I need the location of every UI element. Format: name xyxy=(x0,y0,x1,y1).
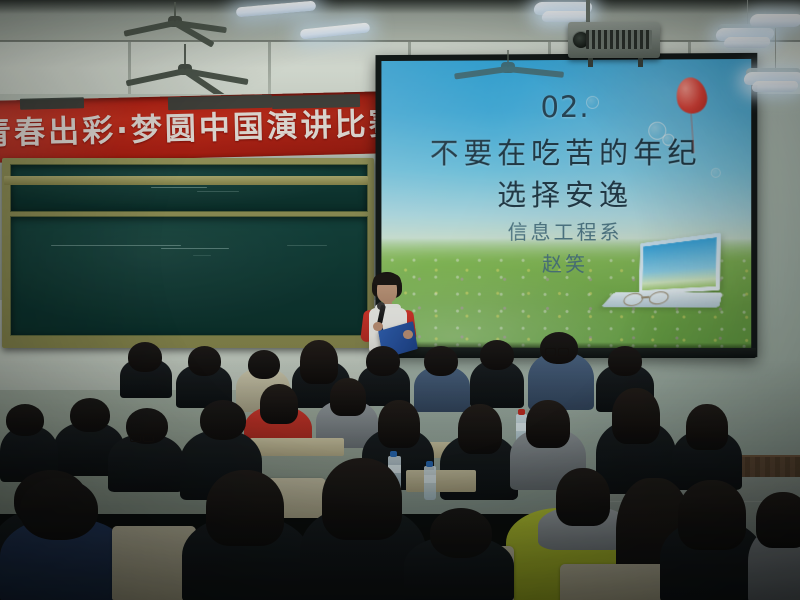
eyeglasses-icon xyxy=(130,434,158,440)
audience-head xyxy=(70,398,110,432)
chalk-mark xyxy=(197,191,239,192)
audience-head xyxy=(756,492,800,548)
water-bottle xyxy=(424,466,436,500)
lamp-tube xyxy=(751,81,799,92)
chalk-mark xyxy=(287,245,327,246)
chalk-mark xyxy=(151,187,207,188)
fan-blade xyxy=(454,66,508,79)
audience-head xyxy=(300,340,338,384)
audience-head xyxy=(200,400,246,440)
audience-head xyxy=(20,478,98,540)
banner-occluding-beam xyxy=(272,94,360,109)
projector-bracket xyxy=(638,58,643,67)
chalk-mark xyxy=(193,255,211,256)
projector-vents xyxy=(586,30,652,49)
ceiling-fan xyxy=(448,50,568,84)
audience-head xyxy=(556,468,610,526)
audience xyxy=(0,330,800,600)
fan-blade xyxy=(126,68,186,86)
audience-head xyxy=(678,480,746,550)
fan-blade xyxy=(508,66,564,78)
fan-rod xyxy=(184,44,186,66)
banner-occluding-beam xyxy=(168,95,272,111)
slide-title-line2: 选择安逸 xyxy=(381,172,751,214)
audience-head xyxy=(458,404,502,454)
eyeglasses-icon xyxy=(545,348,567,354)
lamp-tube xyxy=(541,11,589,22)
audience-head xyxy=(6,404,44,436)
presenter-fringe xyxy=(373,274,401,285)
bottle-cap xyxy=(518,409,525,415)
ceiling-projector xyxy=(568,22,660,58)
classroom-photo: 青春出彩·梦圆中国演讲比赛 xyxy=(0,0,800,600)
screen-surface: 02. 不要在吃苦的年纪 选择安逸 信息工程系 赵笑 xyxy=(381,59,751,349)
fluorescent-lamp xyxy=(750,14,800,34)
bottle-label xyxy=(424,475,436,483)
projector-bracket xyxy=(588,58,593,67)
audience-head xyxy=(248,350,280,379)
audience-head xyxy=(366,346,400,376)
banner-occluding-beam xyxy=(20,97,84,110)
ceiling-fan xyxy=(120,44,250,84)
slide-title-line1: 不要在吃苦的年纪 xyxy=(381,129,751,172)
audience-head xyxy=(612,388,660,444)
projection-screen: 02. 不要在吃苦的年纪 选择安逸 信息工程系 赵笑 xyxy=(376,53,758,357)
bottle-cap xyxy=(390,451,397,457)
laptop-icon xyxy=(608,238,725,321)
ceiling-fan xyxy=(120,2,230,38)
audience-head xyxy=(526,400,570,448)
audience-head xyxy=(480,340,514,370)
chalk-mark xyxy=(51,245,181,246)
audience-head xyxy=(424,346,458,376)
fluorescent-lamp xyxy=(744,72,800,96)
audience-head xyxy=(330,378,366,416)
fan-blade xyxy=(124,20,176,37)
chalk-rail xyxy=(4,176,368,185)
audience-head xyxy=(322,458,402,540)
bottle-cap xyxy=(426,461,433,467)
lamp-tube xyxy=(723,37,771,48)
audience-head xyxy=(608,346,642,376)
audience-head xyxy=(430,508,492,558)
laptop-lid xyxy=(639,233,721,295)
audience-head xyxy=(206,470,284,546)
audience-head xyxy=(260,384,298,424)
audience-head xyxy=(128,342,162,372)
green-blackboard xyxy=(2,158,374,348)
chalk-mark xyxy=(161,248,229,249)
audience-head xyxy=(188,346,221,376)
desk xyxy=(406,470,476,492)
blackboard-panel-top xyxy=(10,164,368,212)
projector-mount xyxy=(586,0,590,24)
wall-mullion xyxy=(268,42,271,94)
audience-head xyxy=(686,404,728,450)
desk xyxy=(250,438,344,456)
audience-head xyxy=(378,400,420,448)
lamp-tube xyxy=(749,14,800,27)
laptop-screen xyxy=(642,237,716,290)
blackboard-panel-bottom xyxy=(10,216,368,336)
